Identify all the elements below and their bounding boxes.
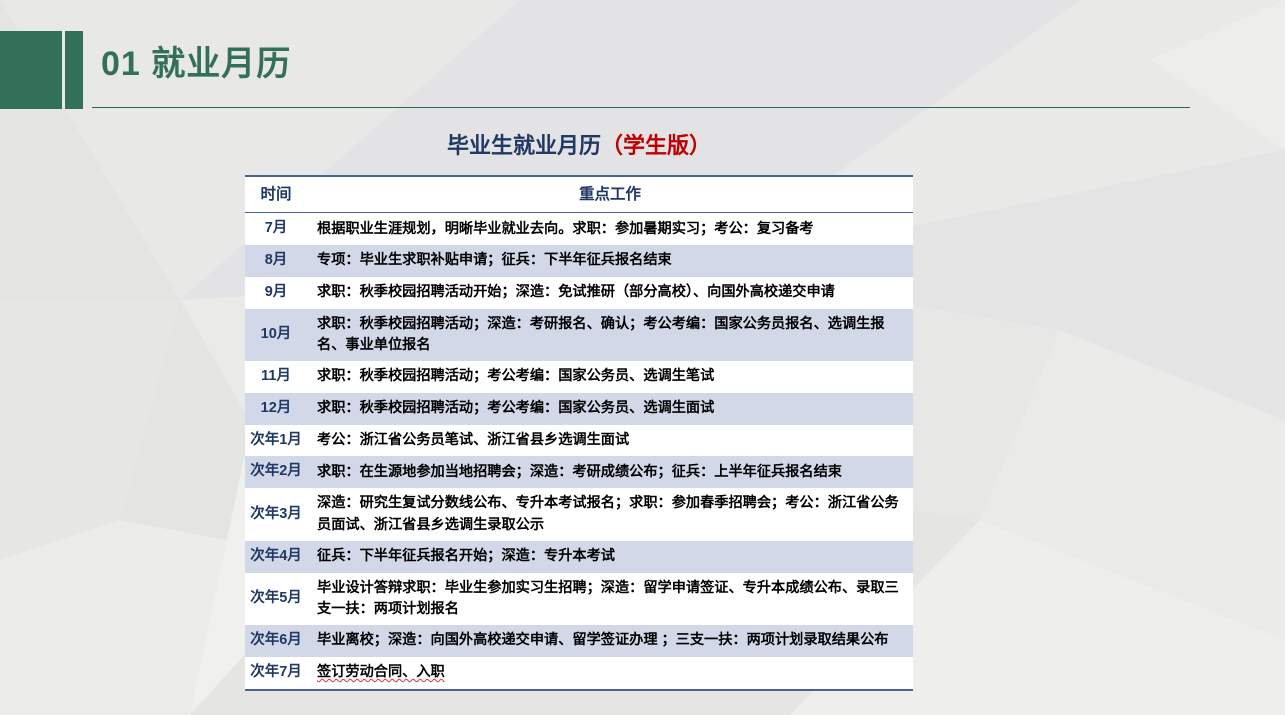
cell-month: 次年2月 <box>245 456 307 488</box>
cell-work: 专项：毕业生求职补贴申请；征兵：下半年征兵报名结束 <box>307 245 913 277</box>
cell-work: 深造：研究生复试分数线公布、专升本考试报名；求职：参加春季招聘会；考公：浙江省公… <box>307 488 913 541</box>
cell-work: 考公：浙江省公务员笔试、浙江省县乡选调生面试 <box>307 425 913 457</box>
table-row: 次年3月深造：研究生复试分数线公布、专升本考试报名；求职：参加春季招聘会；考公：… <box>245 488 913 541</box>
cell-work: 求职：秋季校园招聘活动；深造：考研报名、确认；考公考编：国家公务员报名、选调生报… <box>307 309 913 362</box>
table-row: 次年1月考公：浙江省公务员笔试、浙江省县乡选调生面试 <box>245 425 913 457</box>
cell-month: 次年5月 <box>245 573 307 626</box>
cell-month: 次年1月 <box>245 425 307 457</box>
table-row: 次年6月毕业离校；深造：向国外高校递交申请、留学签证办理 ；三支一扶：两项计划录… <box>245 625 913 657</box>
cell-work: 毕业离校；深造：向国外高校递交申请、留学签证办理 ；三支一扶：两项计划录取结果公… <box>307 625 913 657</box>
table-row: 次年7月签订劳动合同、入职 <box>245 657 913 690</box>
cell-work: 毕业设计答辩求职：毕业生参加实习生招聘；深造：留学申请签证、专升本成绩公布、录取… <box>307 573 913 626</box>
table-row: 次年5月毕业设计答辩求职：毕业生参加实习生招聘；深造：留学申请签证、专升本成绩公… <box>245 573 913 626</box>
cell-month: 11月 <box>245 361 307 393</box>
cell-work: 求职：秋季校园招聘活动；考公考编：国家公务员、选调生笔试 <box>307 361 913 393</box>
cell-month: 12月 <box>245 393 307 425</box>
cell-month: 9月 <box>245 277 307 309</box>
cell-month: 次年7月 <box>245 657 307 690</box>
table-row: 11月求职：秋季校园招聘活动；考公考编：国家公务员、选调生笔试 <box>245 361 913 393</box>
cell-work: 求职：秋季校园招聘活动开始；深造：免试推研（部分高校）、向国外高校递交申请 <box>307 277 913 309</box>
cell-month: 8月 <box>245 245 307 277</box>
header-green-bar <box>65 31 83 109</box>
spell-check-underline: 签订劳动合同、入职 <box>317 664 445 680</box>
table-header-row: 时间 重点工作 <box>245 176 913 213</box>
cell-work: 签订劳动合同、入职 <box>307 657 913 690</box>
table-row: 次年4月征兵：下半年征兵报名开始；深造：专升本考试 <box>245 541 913 573</box>
table-row: 次年2月求职：在生源地参加当地招聘会；深造：考研成绩公布；征兵：上半年征兵报名结… <box>245 456 913 488</box>
table-title: 毕业生就业月历（学生版） <box>245 132 913 161</box>
column-header-work: 重点工作 <box>307 176 913 213</box>
column-header-time: 时间 <box>245 176 307 213</box>
table-title-sub: （学生版） <box>601 133 711 158</box>
header-divider-rule <box>92 107 1190 108</box>
table-row: 12月求职：秋季校园招聘活动；考公考编：国家公务员、选调生面试 <box>245 393 913 425</box>
slide-canvas: 01 就业月历 毕业生就业月历（学生版） 时间 重点工作 7月根据职业生涯规划，… <box>0 0 1285 715</box>
cell-work: 求职：在生源地参加当地招聘会；深造：考研成绩公布；征兵：上半年征兵报名结束 <box>307 456 913 488</box>
cell-work: 求职：秋季校园招聘活动；考公考编：国家公务员、选调生面试 <box>307 393 913 425</box>
table-header: 时间 重点工作 <box>245 176 913 213</box>
cell-work: 征兵：下半年征兵报名开始；深造：专升本考试 <box>307 541 913 573</box>
page-title: 01 就业月历 <box>101 44 291 85</box>
cell-month: 次年3月 <box>245 488 307 541</box>
cell-month: 次年6月 <box>245 625 307 657</box>
table-title-main: 毕业生就业月历 <box>447 133 601 158</box>
table-body: 7月根据职业生涯规划，明晰毕业就业去向。求职：参加暑期实习；考公：复习备考8月专… <box>245 213 913 690</box>
table-row: 9月求职：秋季校园招聘活动开始；深造：免试推研（部分高校）、向国外高校递交申请 <box>245 277 913 309</box>
cell-month: 10月 <box>245 309 307 362</box>
table-row: 8月专项：毕业生求职补贴申请；征兵：下半年征兵报名结束 <box>245 245 913 277</box>
table-row: 10月求职：秋季校园招聘活动；深造：考研报名、确认；考公考编：国家公务员报名、选… <box>245 309 913 362</box>
employment-calendar-table: 时间 重点工作 7月根据职业生涯规划，明晰毕业就业去向。求职：参加暑期实习；考公… <box>245 175 913 691</box>
cell-work: 根据职业生涯规划，明晰毕业就业去向。求职：参加暑期实习；考公：复习备考 <box>307 213 913 245</box>
cell-month: 7月 <box>245 213 307 245</box>
cell-month: 次年4月 <box>245 541 307 573</box>
table-row: 7月根据职业生涯规划，明晰毕业就业去向。求职：参加暑期实习；考公：复习备考 <box>245 213 913 245</box>
header-green-block <box>0 31 62 109</box>
